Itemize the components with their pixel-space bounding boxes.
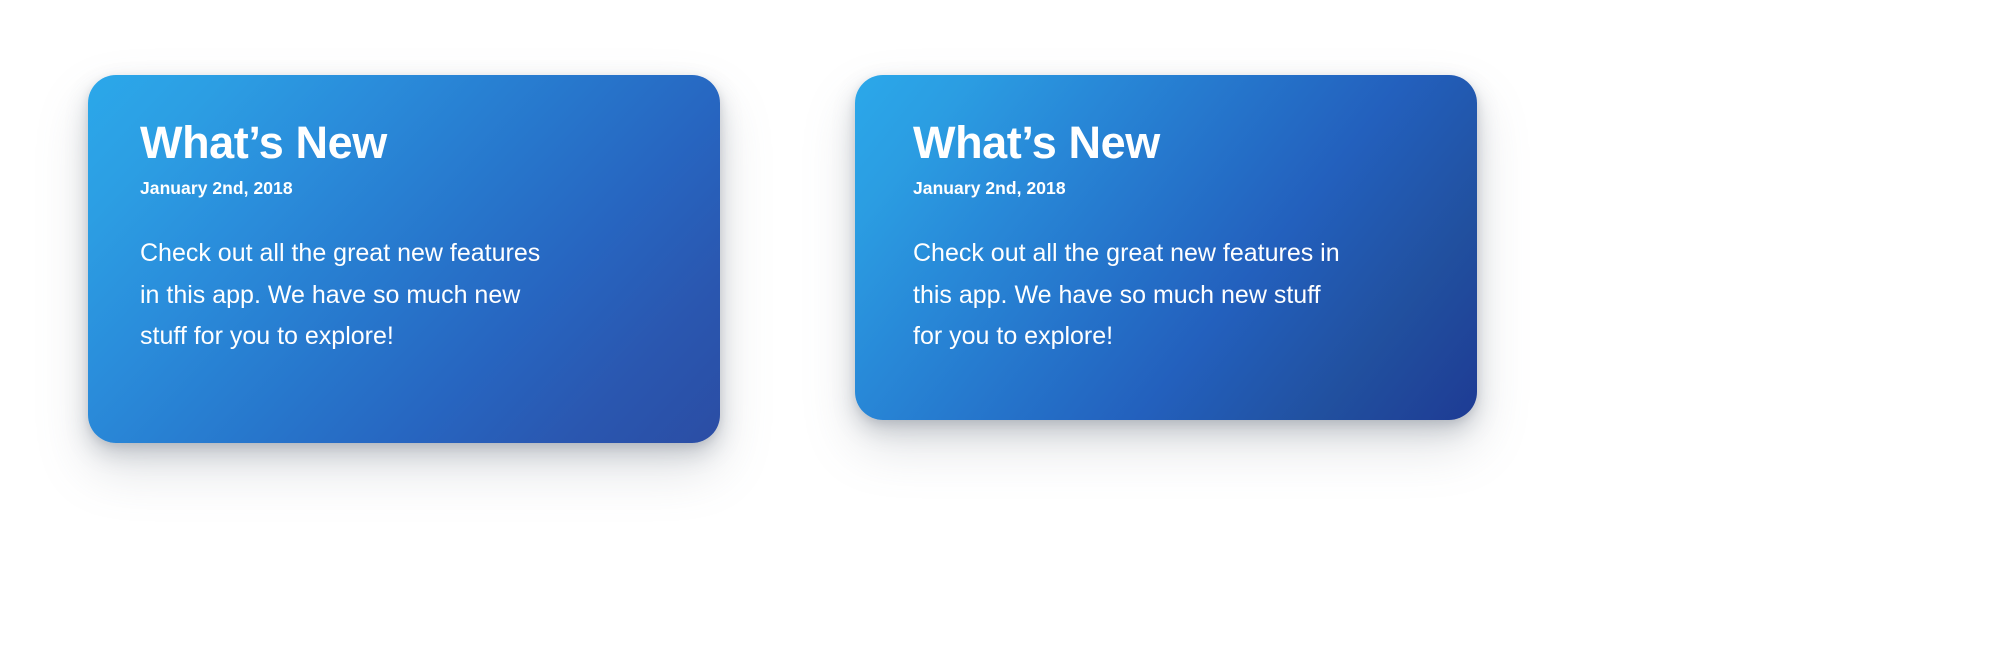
whats-new-card-left[interactable]: What’s New January 2nd, 2018 Check out a… <box>88 75 720 443</box>
card-body-text: Check out all the great new features in … <box>913 233 1437 358</box>
card-date: January 2nd, 2018 <box>913 178 1437 199</box>
card-title: What’s New <box>913 119 1437 166</box>
card-title: What’s New <box>140 119 680 166</box>
card-date: January 2nd, 2018 <box>140 178 680 199</box>
page-canvas: What’s New January 2nd, 2018 Check out a… <box>0 0 2000 669</box>
card-body-text: Check out all the great new features in … <box>140 233 680 358</box>
whats-new-card-right[interactable]: What’s New January 2nd, 2018 Check out a… <box>855 75 1477 420</box>
